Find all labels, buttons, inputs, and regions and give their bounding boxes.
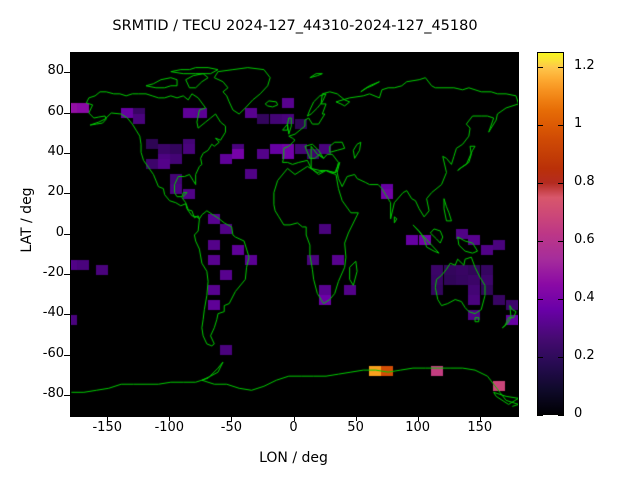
y-tick-label: 60 bbox=[18, 104, 64, 119]
y-tick-label: -60 bbox=[18, 346, 64, 361]
y-tick-label: -80 bbox=[18, 386, 64, 401]
map-plot-area bbox=[70, 52, 519, 417]
y-tick-mark bbox=[64, 72, 70, 73]
x-tick-label: -100 bbox=[139, 420, 199, 435]
y-tick-mark bbox=[64, 395, 70, 396]
colorbar-tick-mark bbox=[558, 415, 564, 416]
colorbar-tick-mark bbox=[558, 241, 564, 242]
colorbar-tick-label: 0.6 bbox=[574, 232, 595, 247]
y-tick-mark bbox=[64, 355, 70, 356]
colorbar-tick-mark bbox=[537, 415, 543, 416]
y-axis-label: LAT / deg bbox=[19, 150, 35, 290]
colorbar-tick-mark bbox=[558, 299, 564, 300]
y-tick-label: -40 bbox=[18, 305, 64, 320]
x-tick-label: 100 bbox=[388, 420, 448, 435]
colorbar-tick-mark bbox=[537, 183, 543, 184]
colorbar-tick-label: 0 bbox=[574, 406, 582, 421]
colorbar-tick-mark bbox=[537, 125, 543, 126]
map-heatmap-canvas bbox=[71, 53, 518, 416]
colorbar-tick-label: 1.2 bbox=[574, 58, 595, 73]
x-tick-label: 50 bbox=[326, 420, 386, 435]
x-tick-label: 0 bbox=[264, 420, 324, 435]
colorbar-tick-mark bbox=[537, 241, 543, 242]
x-tick-label: -50 bbox=[201, 420, 261, 435]
colorbar-tick-label: 0.4 bbox=[574, 290, 595, 305]
colorbar-tick-label: 1 bbox=[574, 116, 582, 131]
chart-title: SRMTID / TECU 2024-127_44310-2024-127_45… bbox=[0, 18, 590, 34]
y-tick-mark bbox=[64, 113, 70, 114]
y-tick-mark bbox=[64, 193, 70, 194]
colorbar bbox=[537, 52, 564, 415]
colorbar-tick-mark bbox=[558, 125, 564, 126]
figure-root: SRMTID / TECU 2024-127_44310-2024-127_45… bbox=[0, 0, 640, 480]
colorbar-tick-label: 0.2 bbox=[574, 348, 595, 363]
colorbar-tick-mark bbox=[558, 183, 564, 184]
x-tick-label: -150 bbox=[77, 420, 137, 435]
y-tick-mark bbox=[64, 314, 70, 315]
colorbar-tick-mark bbox=[537, 67, 543, 68]
colorbar-tick-label: 0.8 bbox=[574, 174, 595, 189]
colorbar-tick-mark bbox=[537, 357, 543, 358]
y-tick-mark bbox=[64, 153, 70, 154]
x-tick-label: 150 bbox=[450, 420, 510, 435]
y-tick-mark bbox=[64, 274, 70, 275]
colorbar-gradient bbox=[537, 52, 564, 415]
colorbar-tick-mark bbox=[537, 299, 543, 300]
y-tick-label: 80 bbox=[18, 63, 64, 78]
colorbar-tick-mark bbox=[558, 357, 564, 358]
x-axis-label: LON / deg bbox=[70, 450, 517, 466]
colorbar-tick-mark bbox=[558, 67, 564, 68]
y-tick-mark bbox=[64, 234, 70, 235]
